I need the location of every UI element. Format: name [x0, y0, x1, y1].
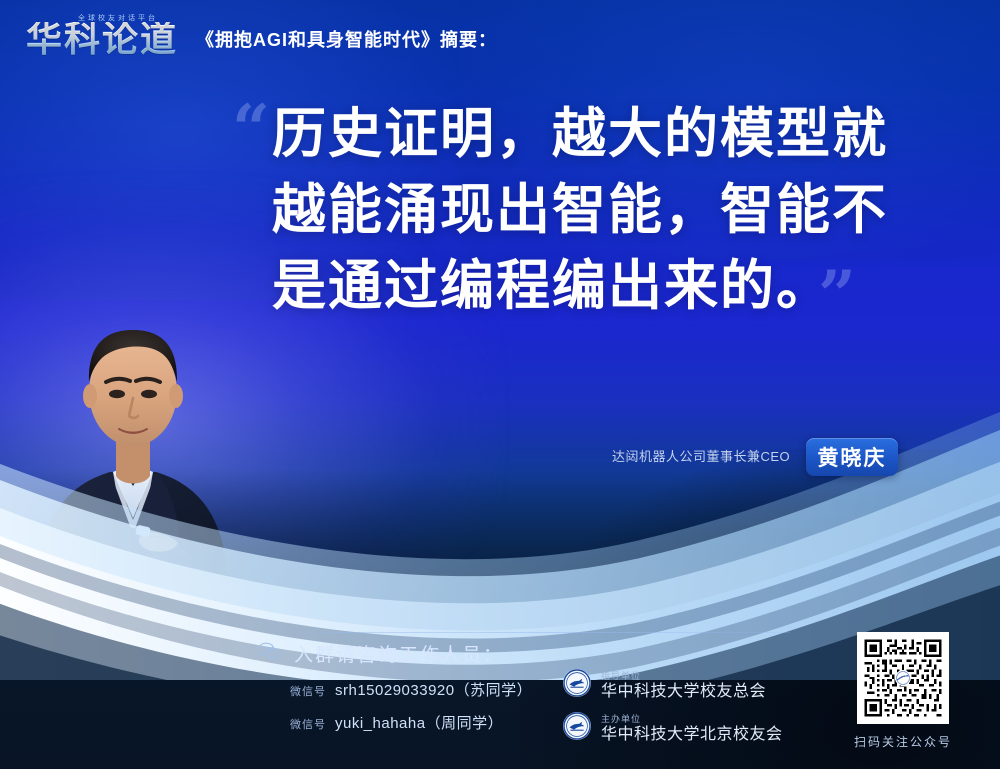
organizations-block: 指导单位 华中科技大学校友总会 主办单位 华中科技大学北京校友会 [562, 668, 783, 754]
organization-kind: 主办单位 [601, 714, 783, 725]
quote-line: 历史证明，越大的模型就 [272, 96, 952, 172]
brand-logo: 全球校友对话平台 华科论道 [26, 14, 178, 58]
quote-open-icon: “ [232, 96, 270, 162]
quote-line: 是通过编程编出来的。 [272, 248, 952, 324]
contact-heading: 入群请咨询工作人员： [258, 640, 588, 667]
wechat-label: 微信号 [290, 683, 326, 699]
footer-divider [286, 632, 790, 633]
organization-name: 华中科技大学北京校友会 [601, 725, 783, 744]
organization-row: 主办单位 华中科技大学北京校友会 [562, 711, 783, 746]
speaker-role: 达闼机器人公司董事长兼CEO [612, 446, 790, 465]
brand-tagline: 全球校友对话平台 [78, 13, 158, 23]
page-title: 《拥抱AGI和具身智能时代》摘要： [196, 26, 497, 58]
organization-kind: 指导单位 [601, 671, 766, 682]
hust-alumni-seal-icon [562, 711, 592, 746]
contact-row: 微信号 srh15029033920（苏同学） [290, 679, 588, 700]
poster-header: 全球校友对话平台 华科论道 《拥抱AGI和具身智能时代》摘要： [26, 14, 497, 58]
organization-name: 华中科技大学校友总会 [601, 682, 766, 701]
qr-block: 扫码关注公众号 [838, 632, 968, 750]
qr-code-icon[interactable] [857, 632, 949, 724]
wechat-value: yuki_hahaha（周同学） [335, 712, 503, 733]
contact-row: 微信号 yuki_hahaha（周同学） [290, 712, 588, 733]
wechat-label: 微信号 [290, 716, 326, 732]
quote-text: 历史证明，越大的模型就 越能涌现出智能，智能不 是通过编程编出来的。 [272, 96, 952, 324]
qr-caption: 扫码关注公众号 [838, 733, 968, 750]
organization-text: 主办单位 华中科技大学北京校友会 [601, 714, 783, 744]
quote-line: 越能涌现出智能，智能不 [272, 172, 952, 248]
poster-canvas: 全球校友对话平台 华科论道 《拥抱AGI和具身智能时代》摘要： “ ” 历史证明… [0, 0, 1000, 769]
contact-title: 入群请咨询工作人员： [294, 640, 504, 667]
organization-row: 指导单位 华中科技大学校友总会 [562, 668, 783, 703]
hust-alumni-seal-icon [562, 668, 592, 703]
organization-text: 指导单位 华中科技大学校友总会 [601, 671, 766, 701]
contact-block: 入群请咨询工作人员： 微信号 srh15029033920（苏同学） 微信号 y… [258, 640, 588, 733]
speaker-attribution: 达闼机器人公司董事长兼CEO [612, 446, 790, 465]
wechat-value: srh15029033920（苏同学） [335, 679, 532, 700]
brand-logo-text: 华科论道 [26, 22, 178, 58]
wechat-icon [258, 642, 282, 665]
speaker-name-badge: 黄晓庆 [806, 438, 898, 476]
